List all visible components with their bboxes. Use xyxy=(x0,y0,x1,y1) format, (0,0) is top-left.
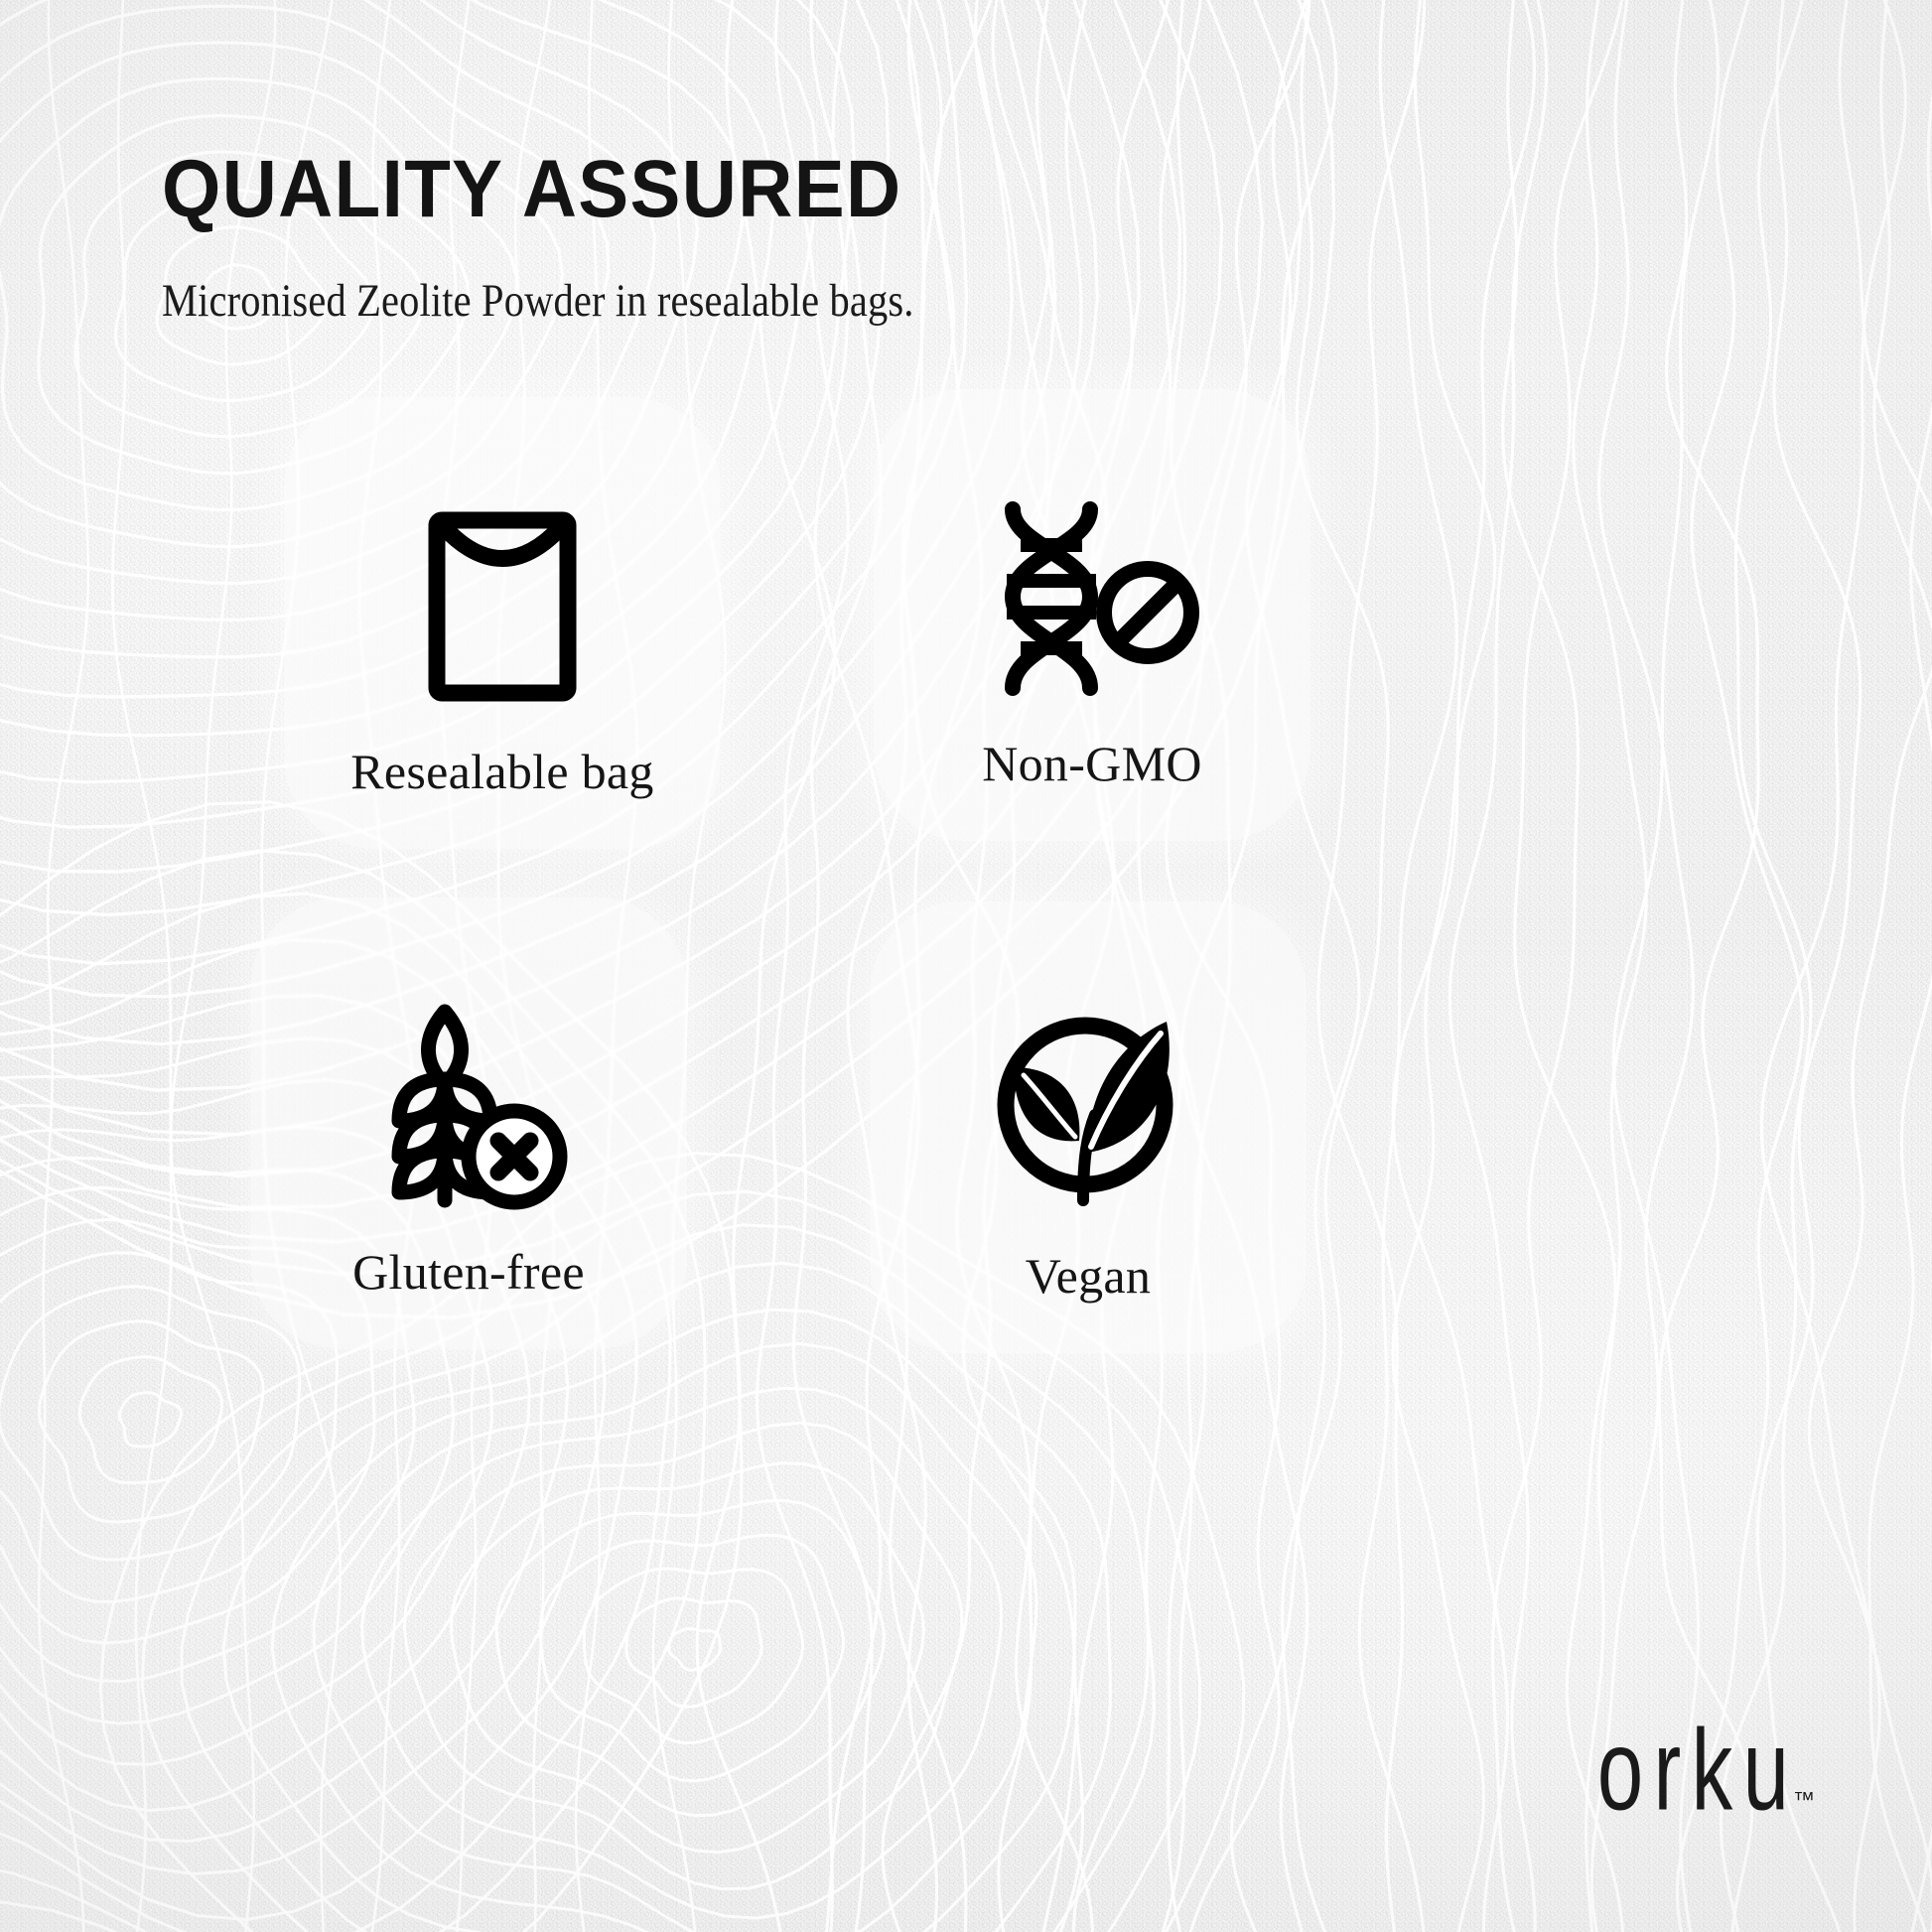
feature-label: Non-GMO xyxy=(982,735,1202,792)
feature-label: Vegan xyxy=(1026,1247,1151,1305)
feature-card-gluten-free[interactable]: Gluten-free xyxy=(250,897,687,1349)
dna-prohibited-icon xyxy=(983,484,1201,713)
wheat-crossed-out-icon xyxy=(365,993,572,1221)
brand-wordmark: orku xyxy=(1597,1719,1799,1825)
feature-label: Resealable bag xyxy=(350,743,653,800)
brand-logo: orku ™ xyxy=(1547,1729,1815,1825)
promo-graphic: QUALITY ASSURED Micronised Zeolite Powde… xyxy=(0,0,1932,1932)
leaves-in-circle-icon xyxy=(984,997,1192,1225)
resealable-bag-icon xyxy=(428,492,577,721)
feature-card-non-gmo[interactable]: Non-GMO xyxy=(874,389,1311,841)
feature-label: Gluten-free xyxy=(352,1243,585,1301)
feature-grid: Resealable bag xyxy=(246,389,1696,1640)
feature-card-vegan[interactable]: Vegan xyxy=(870,901,1307,1353)
page-title: QUALITY ASSURED xyxy=(162,149,1270,230)
page-subtitle: Micronised Zeolite Powder in resealable … xyxy=(162,274,1186,328)
headline-block: QUALITY ASSURED Micronised Zeolite Powde… xyxy=(162,149,1353,328)
feature-card-resealable-bag[interactable]: Resealable bag xyxy=(284,397,721,849)
